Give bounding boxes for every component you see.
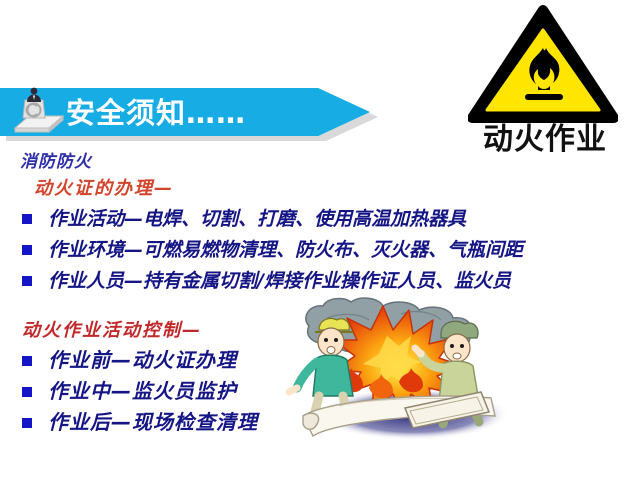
square-bullet-icon: [22, 387, 32, 397]
list-item-label: 作业前—动火证办理: [48, 345, 237, 375]
square-bullet-icon: [22, 356, 32, 366]
warning-triangle-icon: [468, 4, 618, 124]
warning-sign-label: 动火作业: [452, 122, 638, 158]
banner-title: 安全须知……: [66, 92, 246, 134]
podium-speaker-icon: [13, 86, 65, 136]
section-heading-permit: 动火证的办理—: [34, 174, 174, 200]
square-bullet-icon: [22, 418, 32, 428]
list-item: 作业环境—可燃易燃物清理、防火布、灭火器、气瓶间距: [22, 235, 523, 266]
square-bullet-icon: [22, 214, 32, 224]
list-item: 作业前—动火证办理: [22, 345, 258, 376]
list-item: 作业活动—电焊、切割、打磨、使用高温加热器具: [22, 204, 523, 235]
square-bullet-icon: [22, 276, 32, 286]
list-item-label: 作业人员—持有金属切割/焊接作业操作证人员、监火员: [48, 266, 511, 296]
explosion-accident-illustration: 动火证: [283, 296, 523, 442]
permit-bullet-list: 作业活动—电焊、切割、打磨、使用高温加热器具 作业环境—可燃易燃物清理、防火布、…: [22, 204, 523, 297]
section-heading-control: 动火作业活动控制—: [22, 316, 202, 342]
list-item-label: 作业后—现场检查清理: [48, 407, 258, 437]
list-item-label: 作业活动—电焊、切割、打磨、使用高温加热器具: [48, 204, 466, 234]
list-item: 作业人员—持有金属切割/焊接作业操作证人员、监火员: [22, 266, 523, 297]
title-banner: 安全须知……: [0, 88, 380, 138]
list-item-label: 作业中—监火员监护: [48, 376, 237, 406]
square-bullet-icon: [22, 245, 32, 255]
list-item: 作业后—现场检查清理: [22, 407, 258, 438]
hot-work-warning-sign: 动火作业: [452, 4, 638, 162]
subject-heading: 消防防火: [20, 147, 92, 172]
slide-canvas: 动火作业 安全须知…… 消防防火 动火证的办理— 作业活动—电焊、切割、打磨、使…: [0, 0, 640, 480]
control-bullet-list: 作业前—动火证办理 作业中—监火员监护 作业后—现场检查清理: [22, 345, 258, 438]
list-item-label: 作业环境—可燃易燃物清理、防火布、灭火器、气瓶间距: [48, 235, 523, 265]
list-item: 作业中—监火员监护: [22, 376, 258, 407]
